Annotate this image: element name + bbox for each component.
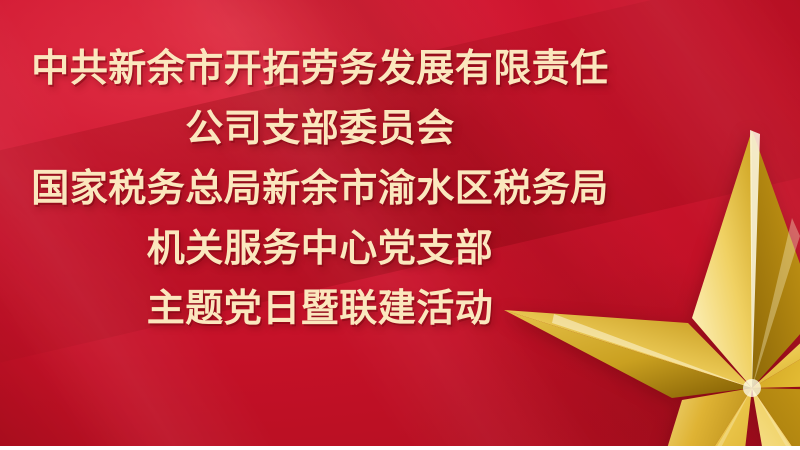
bottom-white-strip	[0, 446, 800, 450]
banner-title-line-1: 中共新余市开拓劳务发展有限责任	[0, 50, 640, 88]
banner-title-line-4: 机关服务中心党支部	[0, 230, 640, 268]
banner-title-block: 中共新余市开拓劳务发展有限责任 公司支部委员会 国家税务总局新余市渝水区税务局 …	[0, 50, 640, 328]
banner-title-line-3: 国家税务总局新余市渝水区税务局	[0, 170, 640, 208]
banner-title-line-2: 公司支部委员会	[0, 110, 640, 148]
banner-title-line-5: 主题党日暨联建活动	[0, 290, 640, 328]
banner-poster: 中共新余市开拓劳务发展有限责任 公司支部委员会 国家税务总局新余市渝水区税务局 …	[0, 0, 800, 450]
